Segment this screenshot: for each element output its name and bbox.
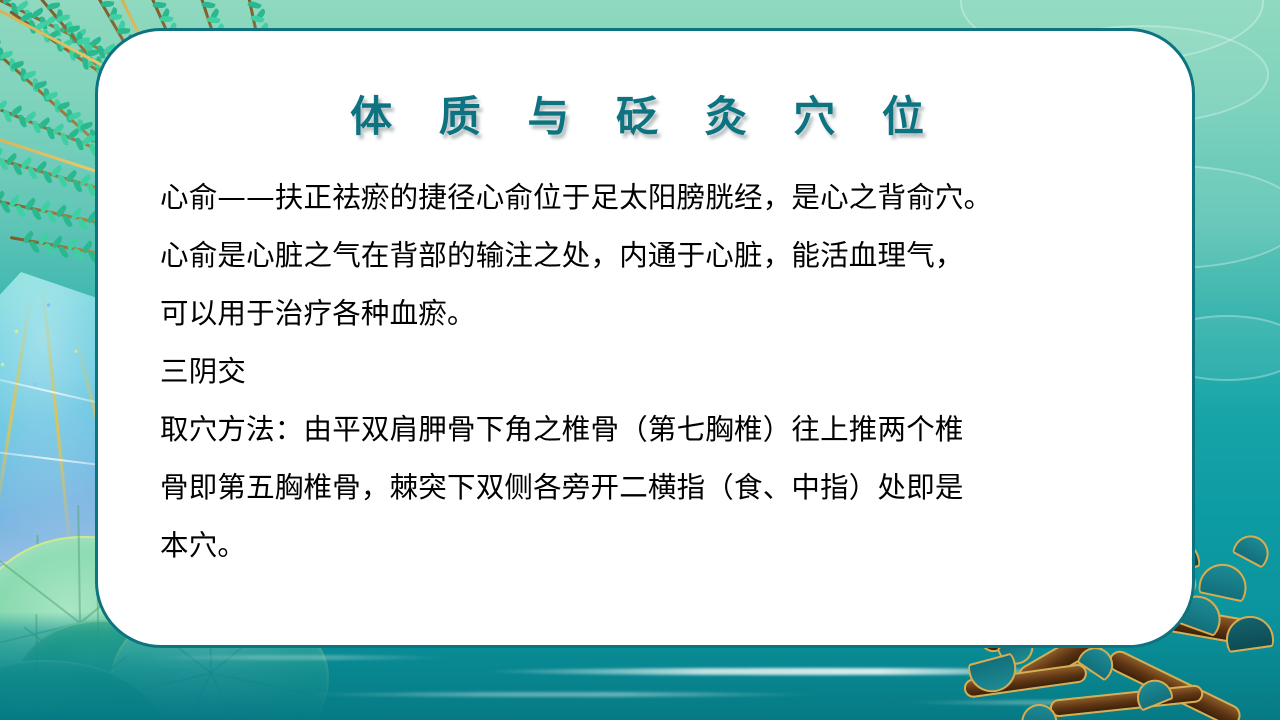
body-line: 三阴交 [160,343,1158,401]
slide-canvas: 体 质 与 砭 灸 穴 位 心俞——扶正祛瘀的捷径心俞位于足太阳膀胱经，是心之背… [0,0,1280,720]
willow-leaf [117,28,130,35]
ginkgo-leaf [1231,529,1275,569]
content-card: 体 质 与 砭 灸 穴 位 心俞——扶正祛瘀的捷径心俞位于足太阳膀胱经，是心之背… [95,28,1195,648]
mountain-vein [0,293,33,540]
body-line: 心俞是心脏之气在背部的输注之处，内通于心脏，能活血理气， [160,227,1158,285]
water-wave-streak [300,692,820,697]
body-line: 骨即第五胸椎骨，棘突下双侧各旁开二横指（食、中指）处即是 [160,459,1158,517]
body-line: 本穴。 [160,517,1158,575]
body-line: 心俞——扶正祛瘀的捷径心俞位于足太阳膀胱经，是心之背俞穴。 [160,169,1158,227]
water-wave-streak [150,655,450,660]
page-title: 体 质 与 砭 灸 穴 位 [98,83,1192,144]
body-line: 取穴方法：由平双肩胛骨下角之椎骨（第七胸椎）往上推两个椎 [160,401,1158,459]
tree-limb [1049,684,1204,718]
body-line: 可以用于治疗各种血瘀。 [160,285,1158,343]
body-text-block: 心俞——扶正祛瘀的捷径心俞位于足太阳膀胱经，是心之背俞穴。 心俞是心脏之气在背部… [160,169,1158,575]
mountain-vein [41,283,74,572]
willow-leaf [101,0,114,7]
